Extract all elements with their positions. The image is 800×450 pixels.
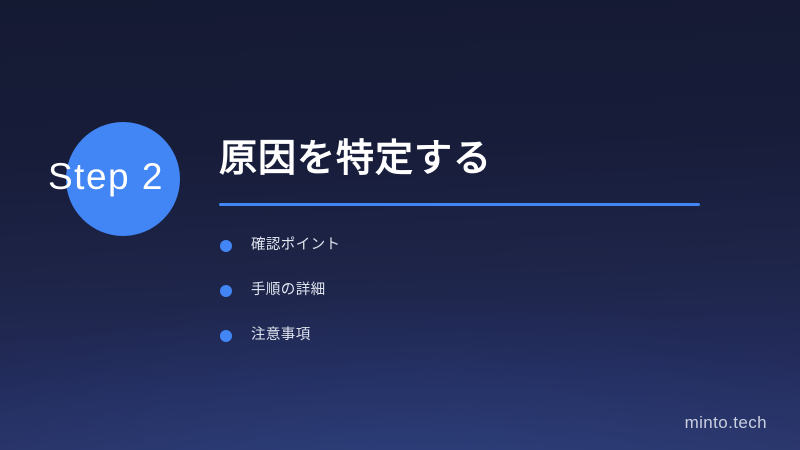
list-item: 確認ポイント: [219, 223, 739, 268]
bullet-dot-icon: [220, 330, 232, 342]
title-divider: [219, 203, 700, 206]
list-item-label: 確認ポイント: [251, 238, 340, 253]
step-badge-label: Step 2: [48, 152, 218, 202]
list-item-label: 手順の詳細: [251, 283, 326, 298]
slide-title: 原因を特定する: [219, 140, 739, 178]
list-item-label: 注意事項: [251, 328, 311, 343]
list-item: 注意事項: [219, 313, 739, 358]
bullet-dot-icon: [220, 240, 232, 252]
bullet-dot-icon: [220, 285, 232, 297]
slide-canvas: Step 2 原因を特定する 確認ポイント 手順の詳細 注意事項 minto.t…: [0, 0, 800, 450]
list-item: 手順の詳細: [219, 268, 739, 313]
slide-content: 原因を特定する 確認ポイント 手順の詳細 注意事項: [219, 140, 739, 358]
watermark-brand: minto.tech: [685, 413, 767, 433]
bullet-list: 確認ポイント 手順の詳細 注意事項: [219, 223, 739, 358]
